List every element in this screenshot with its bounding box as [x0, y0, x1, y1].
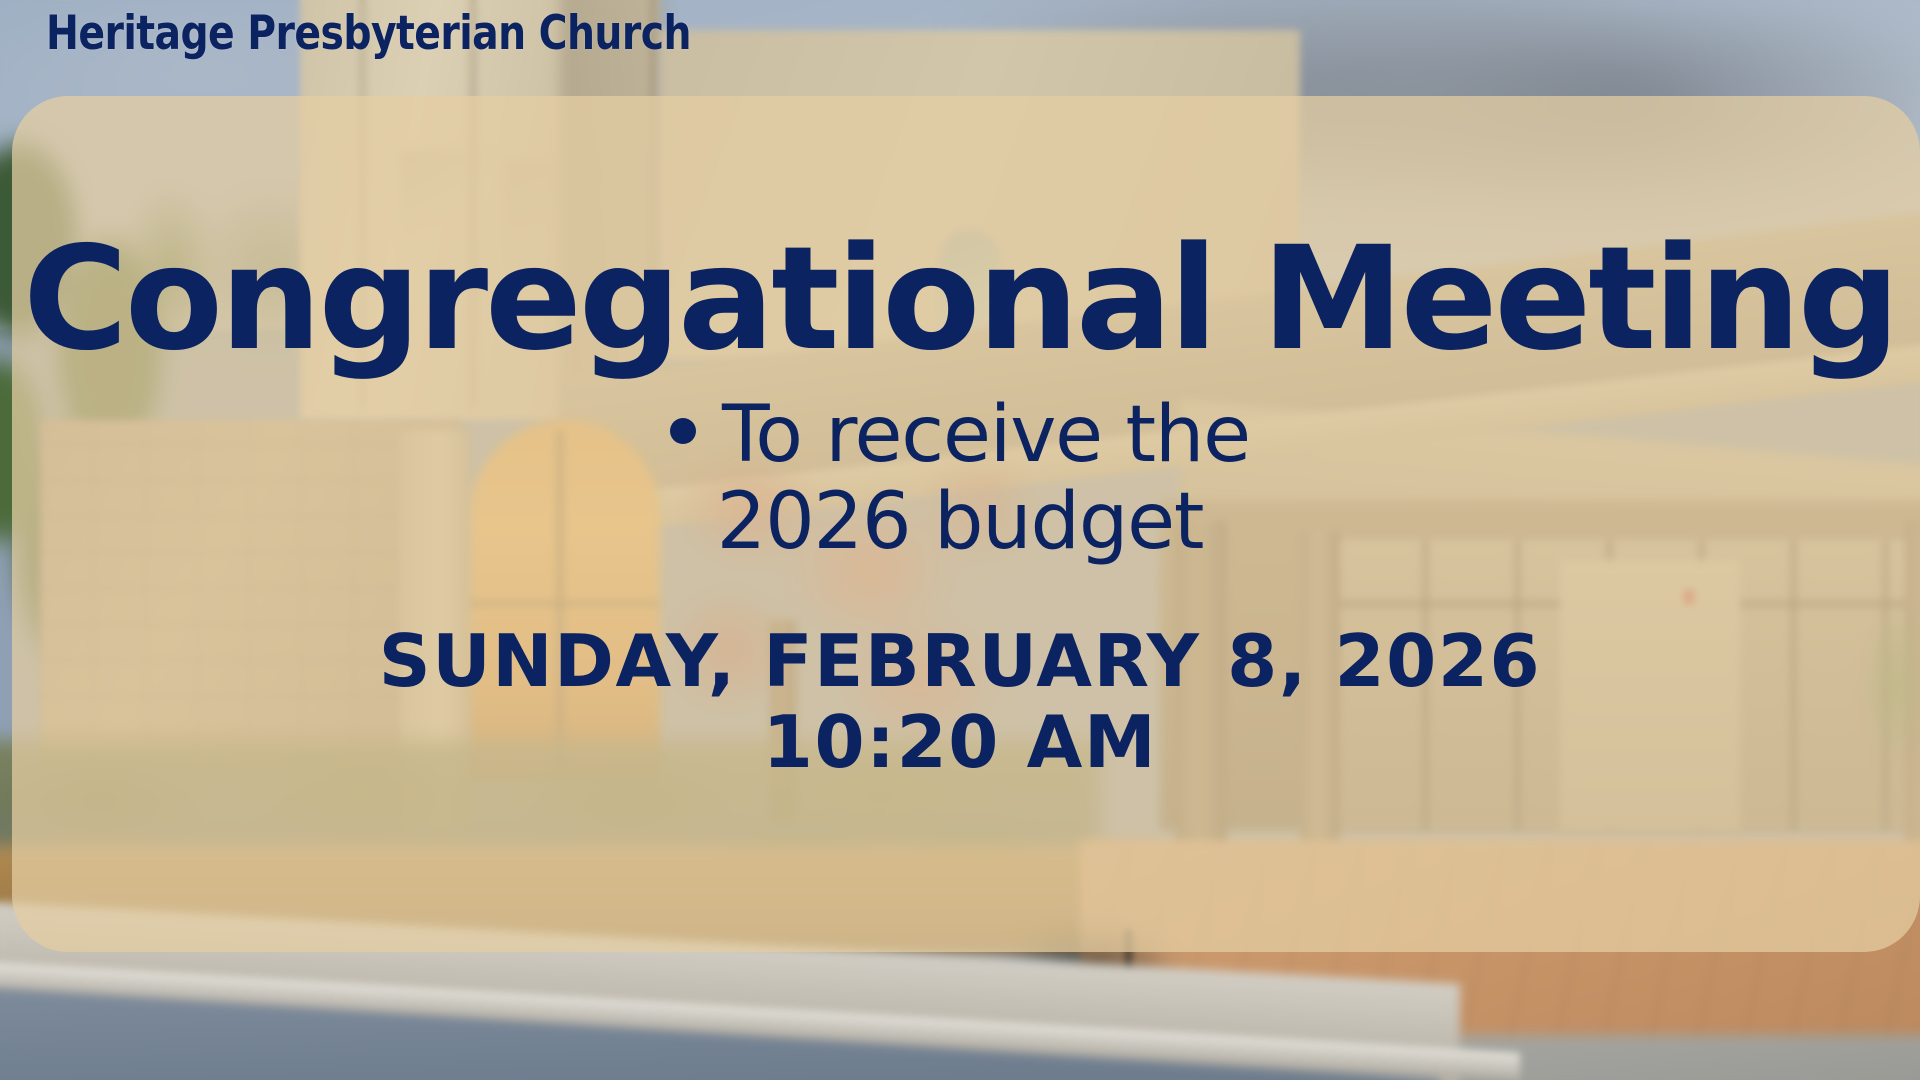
bullet-list: To receive the 2026 budget	[0, 392, 1920, 567]
meeting-date: SUNDAY, FEBRUARY 8, 2026	[0, 621, 1920, 702]
bullet-list-item-line-1: To receive the	[0, 392, 1920, 479]
bullet-dot-icon	[670, 418, 696, 444]
bullet-text-line-1: To receive the	[722, 390, 1250, 480]
meeting-datetime: SUNDAY, FEBRUARY 8, 2026 10:20 AM	[0, 621, 1920, 784]
headline: Congregational Meeting	[0, 226, 1920, 372]
meeting-time: 10:20 AM	[0, 702, 1920, 783]
organization-name: Heritage Presbyterian Church	[46, 6, 691, 61]
bullet-text-line-2: 2026 budget	[0, 479, 1920, 566]
announcement-graphic: Heritage Presbyterian Church Congregatio…	[0, 0, 1920, 1080]
announcement-content: Congregational Meeting To receive the 20…	[0, 96, 1920, 783]
